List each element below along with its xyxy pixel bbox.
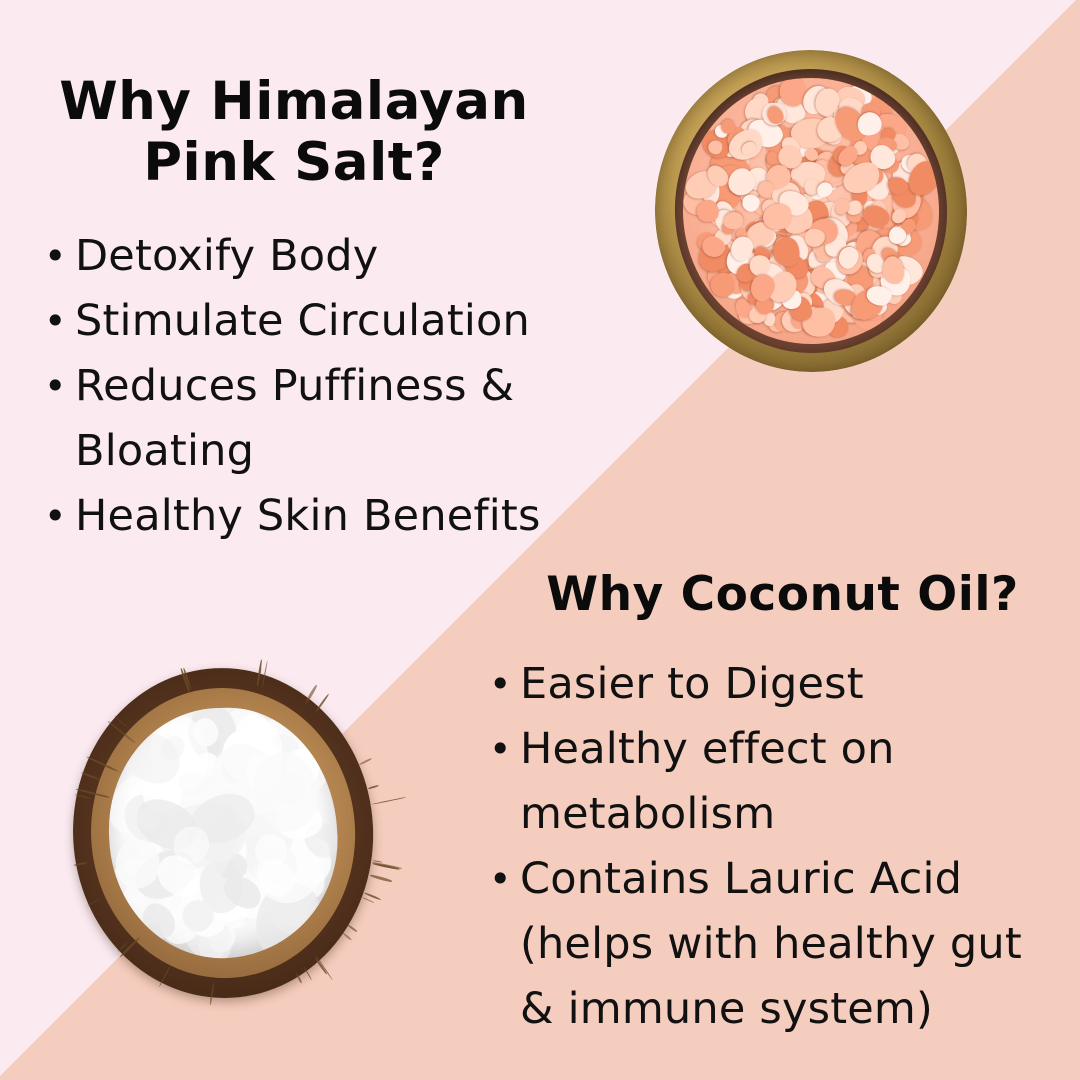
list-item-continuation: Bloating — [44, 419, 644, 484]
coconut-fiber — [342, 932, 352, 941]
list-item: Stimulate Circulation — [44, 289, 644, 354]
salt-benefits-list: Detoxify Body Stimulate Circulation Redu… — [44, 224, 644, 549]
list-item: Reduces Puffiness & — [44, 354, 644, 419]
list-item: Healthy effect on — [489, 717, 1079, 782]
coconut-fiber — [315, 954, 334, 981]
coconut-oil-image — [65, 660, 384, 1040]
list-item: Healthy Skin Benefits — [44, 484, 644, 549]
poster-canvas: Why Himalayan Pink Salt? Detoxify Body S… — [0, 0, 1080, 1080]
list-item: Contains Lauric Acid — [489, 847, 1079, 912]
coconut-benefits-list: Easier to Digest Healthy effect on metab… — [489, 652, 1079, 1042]
list-item-continuation: metabolism — [489, 782, 1079, 847]
coconut-husk — [65, 660, 382, 1005]
coconut-oil-flesh — [103, 702, 344, 964]
list-item: Easier to Digest — [489, 652, 1079, 717]
coconut-section-title: Why Coconut Oil? — [500, 568, 1065, 622]
coconut-fiber — [315, 693, 330, 712]
list-item: Detoxify Body — [44, 224, 644, 289]
salt-crystals — [674, 69, 947, 352]
coconut-fiber — [362, 897, 374, 903]
list-item-continuation: (helps with healthy gut — [489, 912, 1079, 977]
salt-section-title: Why Himalayan Pink Salt? — [20, 72, 568, 194]
list-item-continuation: & immune system) — [489, 977, 1079, 1042]
coconut-fiber — [348, 924, 357, 931]
